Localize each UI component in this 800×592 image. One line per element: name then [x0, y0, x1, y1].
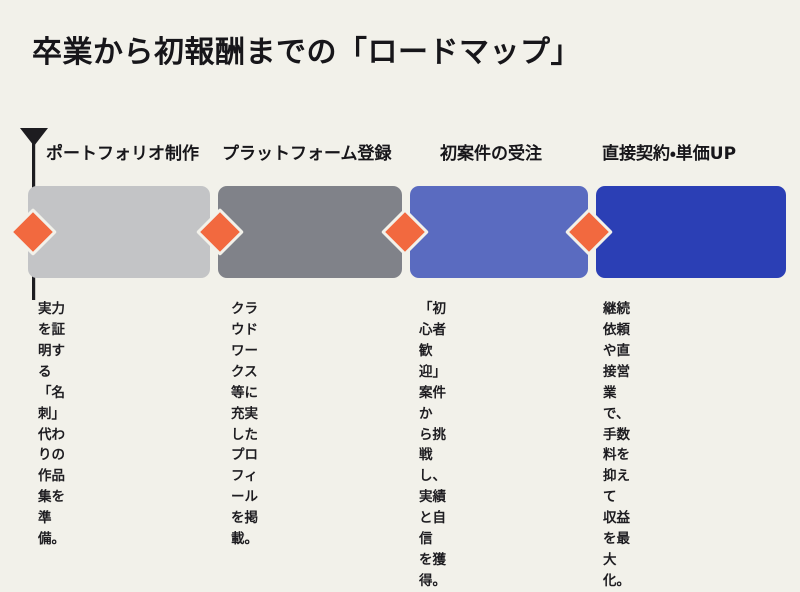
stage-1-header: ポートフォリオ制作 [46, 144, 199, 164]
stage-4-description: 継続依頼や直接営業 で、手数料を抑えて 収益を最大化。 [603, 299, 630, 592]
stage-list: ポートフォリオ制作実力を証明する「名刺」 代わりの作品集を 準備。プラットフォー… [0, 0, 800, 418]
stage-2-header: プラットフォーム登録 [222, 144, 392, 164]
stage-4-header: 直接契約・単価UP [602, 144, 736, 164]
roadmap-infographic: 卒業から初報酬までの「ロードマップ」 ポートフォリオ制作実力を証明する「名刺」 … [0, 0, 800, 418]
stage-3-header: 初案件の受注 [440, 144, 542, 164]
stage-4-bar[interactable] [596, 186, 786, 278]
stage-2-description: クラウドワークス等に 充実したプロフィール を掲載。 [231, 299, 258, 550]
stage-2-bar[interactable] [218, 186, 402, 278]
stage-1-description: 実力を証明する「名刺」 代わりの作品集を 準備。 [38, 299, 65, 550]
stage-3-bar[interactable] [410, 186, 588, 278]
stage-3-description: 「初心者歓迎」案件か ら挑戦し、実績と自信 を獲得。 [419, 299, 446, 592]
